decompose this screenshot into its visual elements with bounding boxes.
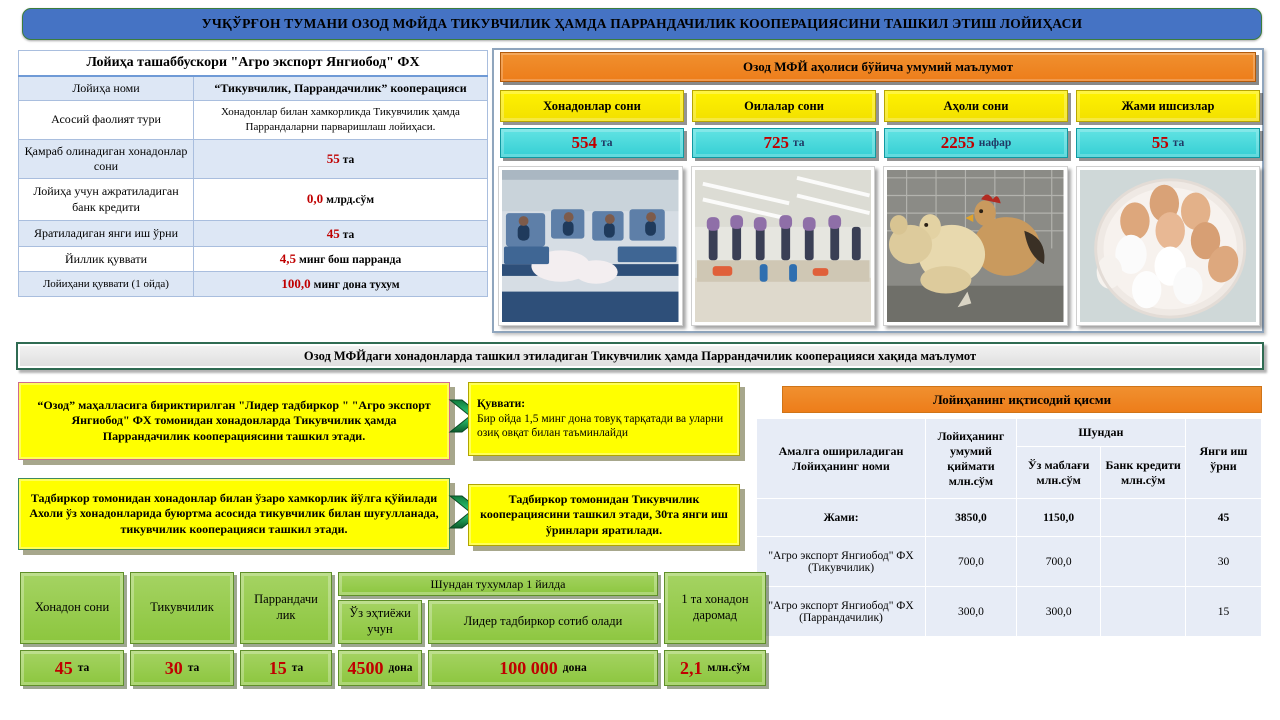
bottom-label-sewing: Тикувчилик [130, 572, 234, 644]
col-shundan: Шундан [1016, 419, 1185, 447]
cell-own: 300,0 [1016, 587, 1101, 637]
cell-credit [1101, 537, 1186, 587]
table-row: "Агро экспорт Янгиобод" ФХ (Тикувчилик) … [757, 537, 1262, 587]
stat-title: Жами ишсизлар [1076, 90, 1260, 122]
row-value-number: 4,5 [280, 251, 296, 266]
row-value-number: 0,0 [307, 191, 323, 206]
photo-strip [498, 166, 1260, 326]
row-label: Қамраб олинадиган хонадонлар сони [19, 139, 194, 178]
callout-box-3-body: Бир ойда 1,5 минг дона товуқ тарқатади в… [477, 412, 731, 442]
stat-unemployed: Жами ишсизлар 55 та [1076, 90, 1260, 158]
bottom-value-number: 15 [269, 657, 287, 680]
bottom-label-text: 1 та хонадон даромад [669, 592, 761, 623]
cell-jobs: 15 [1185, 587, 1261, 637]
row-value-number: 55 [327, 151, 340, 166]
bottom-value-number: 4500 [348, 657, 384, 680]
row-value: 4,5 минг бош парранда [194, 247, 488, 272]
bottom-value-poultry: 15 та [240, 650, 332, 686]
mid-banner-text: Озод МФЙдаги хонадонларда ташкил этилади… [304, 349, 976, 364]
bottom-value-unit: та [78, 661, 90, 675]
col-total-value: Лойиҳанинг умумий қиймати млн.сўм [926, 419, 1017, 499]
bottom-label-households: Хонадон сони [20, 572, 124, 644]
stat-number: 55 [1152, 133, 1169, 153]
col-project-name: Амалга ошириладиган Лойиҳанинг номи [757, 419, 926, 499]
bottom-value-number: 100 000 [499, 657, 558, 680]
sewing-machines-photo [691, 166, 876, 326]
sewing-workshop-photo [498, 166, 683, 326]
cell-name: "Агро экспорт Янгиобод" ФХ (Тикувчилик) [757, 537, 926, 587]
stat-unit: та [601, 137, 613, 149]
row-value-unit: минг дона тухум [314, 279, 400, 291]
col-bank-credit: Банк кредити млн.сўм [1101, 447, 1186, 499]
row-value-number: 100,0 [281, 276, 310, 291]
row-label: Йиллик қуввати [19, 247, 194, 272]
row-label: Асосий фаолият тури [19, 101, 194, 140]
bottom-label-own-need: Ўз эҳтиёжи учун [338, 600, 422, 644]
row-value: 55 та [194, 139, 488, 178]
bottom-value-sewing: 30 та [130, 650, 234, 686]
stat-unit: нафар [979, 137, 1011, 149]
stat-number: 725 [763, 133, 789, 153]
row-label: Лойиҳа номи [19, 76, 194, 101]
project-info-header: Лойиҳа ташаббускори "Агро экспорт Янгиоб… [19, 51, 488, 77]
stat-value: 2255 нафар [884, 128, 1068, 158]
bottom-value-own-need: 4500 дона [338, 650, 422, 686]
cell-jobs: 45 [1185, 499, 1261, 537]
row-value: “Тикувчилик, Паррандачилик” кооперацияси [194, 76, 488, 101]
project-info-table: Лойиҳа ташаббускори "Агро экспорт Янгиоб… [18, 50, 488, 297]
mid-banner: Озод МФЙдаги хонадонларда ташкил этилади… [16, 342, 1264, 370]
col-new-jobs: Янги иш ўрни [1185, 419, 1261, 499]
bottom-label-leader-buys: Лидер тадбиркор сотиб олади [428, 600, 658, 644]
cell-total: 3850,0 [926, 499, 1017, 537]
row-value-unit: та [343, 229, 355, 241]
population-banner-text: Озод МФЙ аҳолиси бўйича умумий маълумот [743, 59, 1013, 75]
row-value: 100,0 минг дона тухум [194, 272, 488, 297]
population-stats-row: Хонадонлар сони 554 та Оилалар сони 725 … [500, 90, 1260, 158]
stat-number: 554 [571, 133, 597, 153]
table-row: Лойиҳа учун ажратиладиган банк кредити 0… [19, 178, 488, 221]
page-title-text: УЧҚЎРҒОН ТУМАНИ ОЗОД МФЙДА ТИКУВЧИЛИК ҲА… [202, 16, 1082, 32]
chickens-photo [883, 166, 1068, 326]
callout-box-1-text: “Озод” маҳалласига бириктирилган "Лидер … [27, 398, 441, 445]
callout-box-3-title: Қуввати: [477, 397, 731, 412]
bottom-value-number: 45 [55, 657, 73, 680]
eggs-bowl-photo [1076, 166, 1261, 326]
cell-own: 700,0 [1016, 537, 1101, 587]
bottom-value-leader-buys: 100 000 дона [428, 650, 658, 686]
bottom-value-number: 30 [165, 657, 183, 680]
stat-number: 2255 [941, 133, 975, 153]
bottom-value-unit: млн.сўм [708, 661, 750, 675]
table-row: Асосий фаолият тури Хонадонлар билан хам… [19, 101, 488, 140]
bottom-label-text: Лидер тадбиркор сотиб олади [464, 614, 623, 630]
callout-box-2: Тадбиркор томонидан хонадонлар билан ўза… [18, 478, 450, 550]
row-label: Лойиҳа учун ажратиладиган банк кредити [19, 178, 194, 221]
table-row: Қамраб олинадиган хонадонлар сони 55 та [19, 139, 488, 178]
callout-box-4-text: Тадбиркор томонидан Тикувчилик коопераци… [477, 492, 731, 539]
row-label: Яратиладиган янги иш ўрни [19, 221, 194, 247]
bottom-label-eggs-group: Шундан тухумлар 1 йилда [338, 572, 658, 596]
table-row: Лойиҳа номи “Тикувчилик, Паррандачилик” … [19, 76, 488, 101]
bottom-label-text: Тикувчилик [150, 600, 214, 616]
stat-population: Аҳоли сони 2255 нафар [884, 90, 1068, 158]
row-value-unit: минг бош парранда [299, 254, 401, 266]
bottom-value-households: 45 та [20, 650, 124, 686]
cell-total: 300,0 [926, 587, 1017, 637]
bottom-label-text: Ўз эҳтиёжи учун [343, 606, 417, 637]
eggs-bowl-illustration [1080, 170, 1257, 322]
econ-header: Лойиҳанинг иқтисодий қисми [782, 386, 1262, 413]
econ-header-text: Лойиҳанинг иқтисодий қисми [933, 392, 1111, 408]
callout-box-1: “Озод” маҳалласига бириктирилган "Лидер … [18, 382, 450, 460]
stat-households: Хонадонлар сони 554 та [500, 90, 684, 158]
cell-total: 700,0 [926, 537, 1017, 587]
callout-box-4: Тадбиркор томонидан Тикувчилик коопераци… [468, 484, 740, 546]
stat-unit: та [793, 137, 805, 149]
stat-title: Хонадонлар сони [500, 90, 684, 122]
table-row: Яратиладиган янги иш ўрни 45 та [19, 221, 488, 247]
row-value-number: 45 [327, 226, 340, 241]
row-value-unit: млрд.сўм [326, 194, 374, 206]
table-row: Лойиҳани қуввати (1 ойда) 100,0 минг дон… [19, 272, 488, 297]
bottom-value-unit: дона [563, 661, 587, 675]
cell-name: "Агро экспорт Янгиобод" ФХ (Паррандачили… [757, 587, 926, 637]
bottom-value-unit: та [188, 661, 200, 675]
cell-credit [1101, 499, 1186, 537]
row-value: 0,0 млрд.сўм [194, 178, 488, 221]
bottom-label-poultry: Паррандачи лик [240, 572, 332, 644]
table-row: "Агро экспорт Янгиобод" ФХ (Паррандачили… [757, 587, 1262, 637]
row-value: 45 та [194, 221, 488, 247]
bottom-value-number: 2,1 [680, 657, 703, 680]
bottom-value-unit: дона [389, 661, 413, 675]
bottom-value-income: 2,1 млн.сўм [664, 650, 766, 686]
row-value: Хонадонлар билан хамкорликда Тикувчилик … [194, 101, 488, 140]
stat-unit: та [1173, 137, 1185, 149]
stat-value: 725 та [692, 128, 876, 158]
bottom-label-income: 1 та хонадон даромад [664, 572, 766, 644]
stat-title: Оилалар сони [692, 90, 876, 122]
population-banner: Озод МФЙ аҳолиси бўйича умумий маълумот [500, 52, 1256, 82]
table-row: Йиллик қуввати 4,5 минг бош парранда [19, 247, 488, 272]
table-row: Жами: 3850,0 1150,0 45 [757, 499, 1262, 537]
stat-families: Оилалар сони 725 та [692, 90, 876, 158]
bottom-label-text: Хонадон сони [35, 600, 109, 616]
bottom-value-unit: та [292, 661, 304, 675]
row-label: Лойиҳани қуввати (1 ойда) [19, 272, 194, 297]
stat-title: Аҳоли сони [884, 90, 1068, 122]
sewing-machines-illustration [695, 170, 872, 322]
sewing-workshop-illustration [502, 170, 679, 322]
cell-name: Жами: [757, 499, 926, 537]
cell-jobs: 30 [1185, 537, 1261, 587]
econ-header-row-1: Амалга ошириладиган Лойиҳанинг номи Лойи… [757, 419, 1262, 447]
cell-own: 1150,0 [1016, 499, 1101, 537]
stat-value: 55 та [1076, 128, 1260, 158]
callout-box-3: Қуввати: Бир ойда 1,5 минг дона товуқ та… [468, 382, 740, 456]
chickens-illustration [887, 170, 1064, 322]
econ-table: Амалга ошириладиган Лойиҳанинг номи Лойи… [756, 418, 1262, 637]
row-value-unit: та [343, 154, 355, 166]
bottom-label-text: Паррандачи лик [245, 592, 327, 623]
bottom-label-text: Шундан тухумлар 1 йилда [430, 577, 565, 592]
col-own-funds: Ўз маблағи млн.сўм [1016, 447, 1101, 499]
page-title: УЧҚЎРҒОН ТУМАНИ ОЗОД МФЙДА ТИКУВЧИЛИК ҲА… [22, 8, 1262, 40]
stat-value: 554 та [500, 128, 684, 158]
table-row-header: Лойиҳа ташаббускори "Агро экспорт Янгиоб… [19, 51, 488, 77]
cell-credit [1101, 587, 1186, 637]
callout-box-2-text: Тадбиркор томонидан хонадонлар билан ўза… [27, 491, 441, 538]
